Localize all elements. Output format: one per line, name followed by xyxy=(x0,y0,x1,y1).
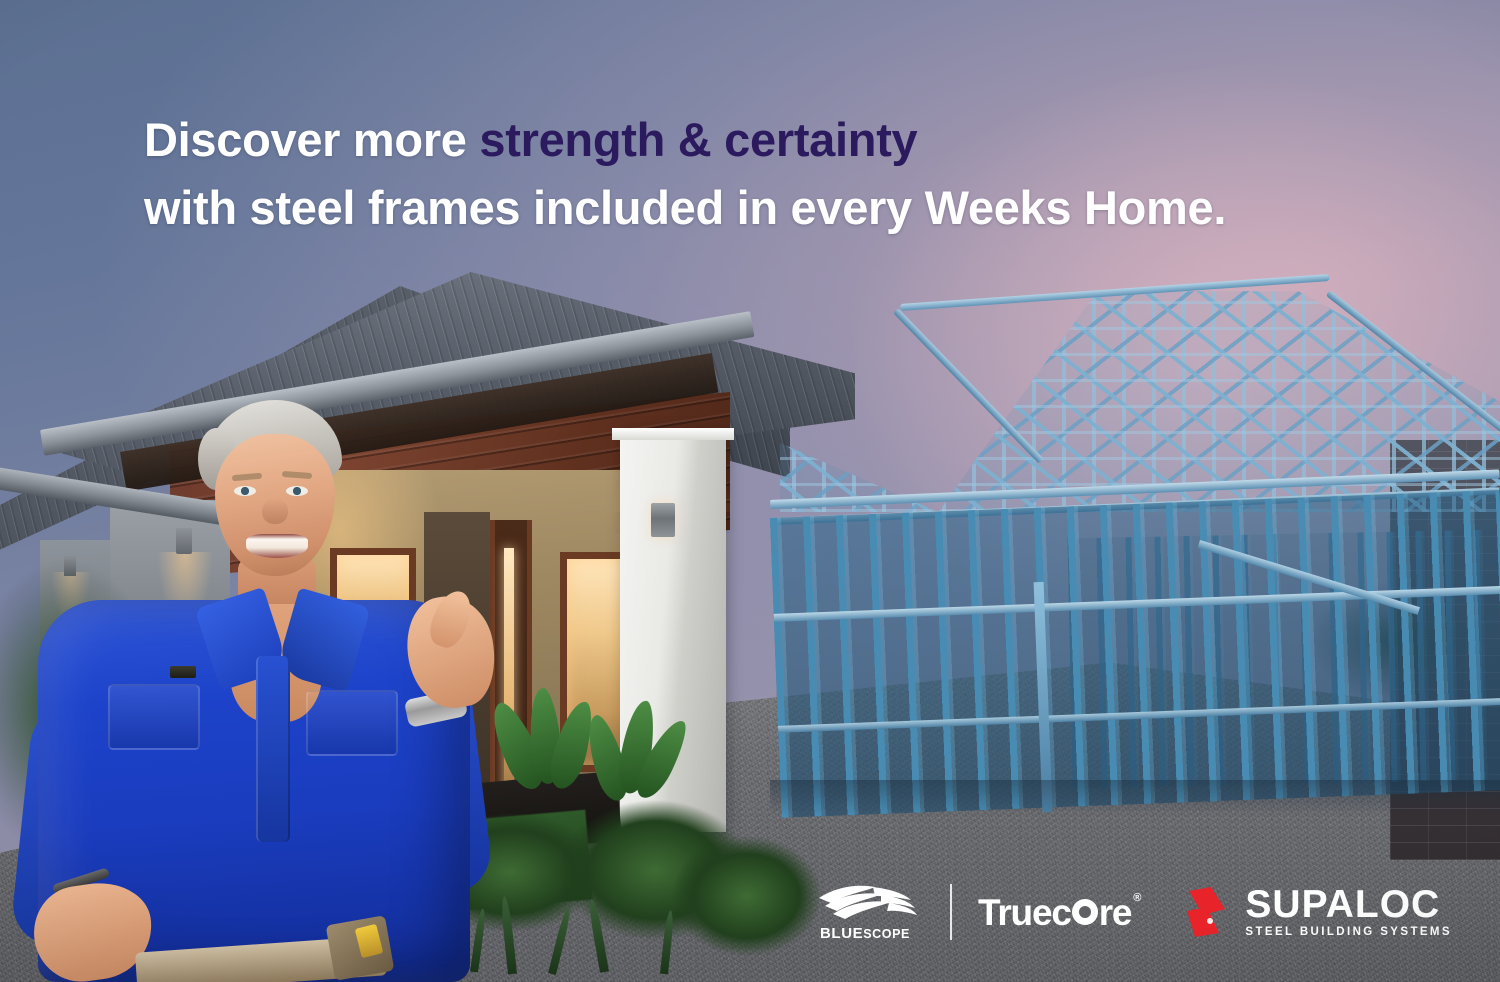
supaloc-text-block: SUPALOC STEEL BUILDING SYSTEMS xyxy=(1245,886,1452,938)
headline-accent: strength & certainty xyxy=(479,113,917,166)
truecore-logo[interactable]: Truec re ® xyxy=(978,894,1141,931)
supaloc-bolt-icon xyxy=(1185,885,1241,939)
wall-studs xyxy=(770,490,1500,818)
presenter-shirt-pocket-left xyxy=(108,684,200,750)
truecore-word-pre: Truec xyxy=(978,894,1071,931)
steel-frame-section xyxy=(770,282,1500,802)
bluescope-word-blue: BLUE xyxy=(820,925,863,942)
hip-rafter-left xyxy=(893,308,1044,464)
truecore-registered-mark: ® xyxy=(1133,892,1141,904)
presenter-smile xyxy=(246,534,308,558)
bluescope-logo[interactable]: BLUESCOPE xyxy=(806,884,924,941)
hero-banner: Discover more strength & certainty with … xyxy=(0,0,1500,982)
presenter-brand-badge xyxy=(170,666,196,678)
bluescope-word-scope: SCOPE xyxy=(863,927,910,941)
page-title: Discover more strength & certainty with … xyxy=(144,106,1344,242)
truecore-wordmark: Truec re xyxy=(978,894,1131,931)
frame-base-shadow xyxy=(770,780,1500,816)
headline-line1-plain: Discover more xyxy=(144,113,479,166)
headline-line-1: Discover more strength & certainty xyxy=(144,106,1344,174)
presenter-eye-right xyxy=(286,486,308,496)
pillar-cap xyxy=(612,428,734,440)
shrub xyxy=(672,836,822,956)
presenter-figure xyxy=(10,398,510,982)
supaloc-tagline: STEEL BUILDING SYSTEMS xyxy=(1245,926,1452,938)
partner-logo-bar: BLUESCOPE Truec re ® SUPALOC STEEL BUILD… xyxy=(806,876,1452,948)
presenter-nose xyxy=(262,498,288,524)
wall-light-icon xyxy=(651,503,675,537)
headline-line-2: with steel frames included in every Week… xyxy=(144,174,1344,242)
truecore-target-o-icon xyxy=(1072,899,1098,925)
presenter-eye-left xyxy=(234,486,256,496)
bluescope-wordmark: BLUESCOPE xyxy=(820,926,910,941)
logo-divider xyxy=(950,884,952,940)
bluescope-coil-icon xyxy=(813,884,917,924)
presenter-shirt-pocket-right xyxy=(306,690,398,756)
presenter-shirt-placket xyxy=(256,656,290,842)
supaloc-logo[interactable]: SUPALOC STEEL BUILDING SYSTEMS xyxy=(1185,885,1452,939)
truecore-word-post: re xyxy=(1099,894,1132,931)
supaloc-wordmark: SUPALOC xyxy=(1245,886,1452,923)
